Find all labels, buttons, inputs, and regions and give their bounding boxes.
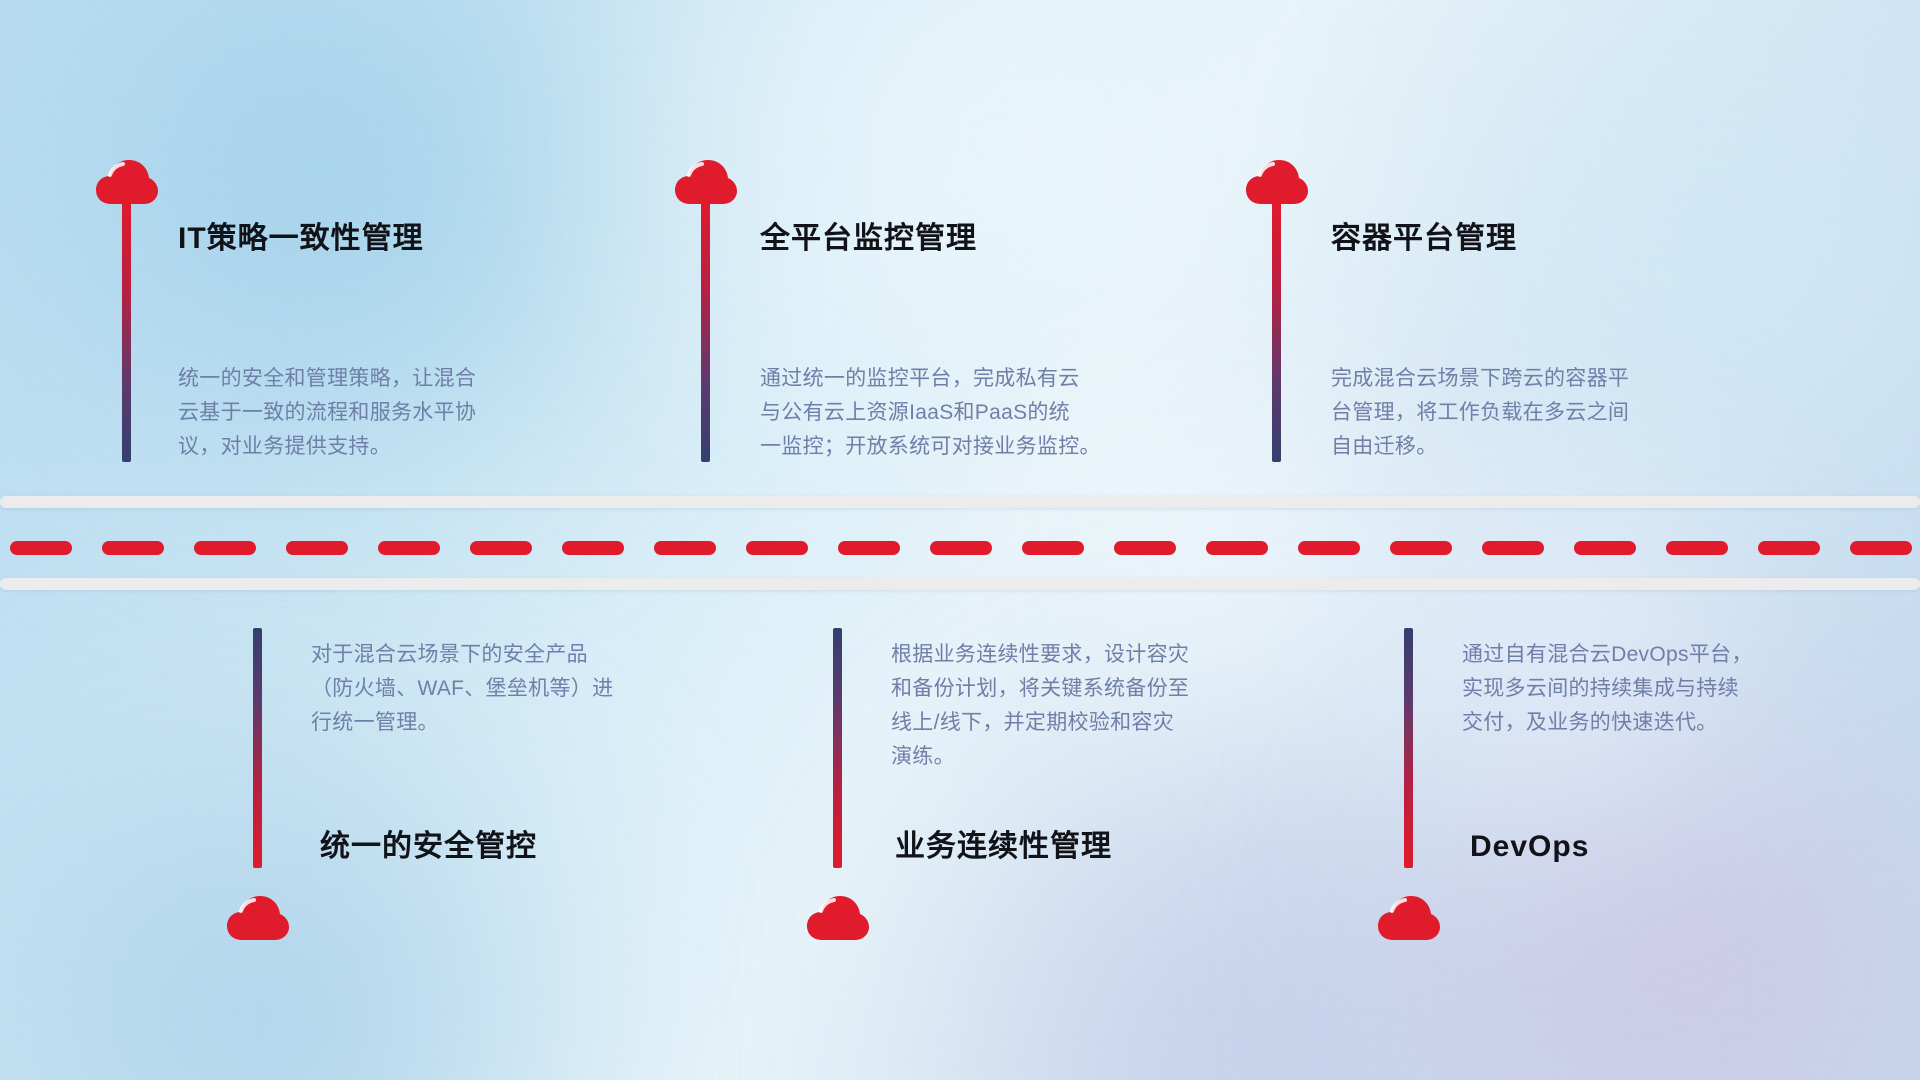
card-description: 根据业务连续性要求，设计容灾 和备份计划，将关键系统备份至 线上/线下，并定期校… — [891, 638, 1271, 774]
connector-line — [1272, 200, 1281, 462]
connector-line — [1404, 628, 1413, 868]
divider-dash — [1666, 541, 1728, 555]
card-description: 完成混合云场景下跨云的容器平 台管理，将工作负载在多云之间 自由迁移。 — [1331, 362, 1711, 464]
card-title: IT策略一致性管理 — [178, 224, 424, 254]
card-description: 对于混合云场景下的安全产品 （防火墙、WAF、堡垒机等）进 行统一管理。 — [311, 638, 691, 740]
divider-dash — [286, 541, 348, 555]
divider-dash — [102, 541, 164, 555]
divider-dash — [1114, 541, 1176, 555]
divider-dash — [1206, 541, 1268, 555]
cloud-icon — [807, 896, 869, 942]
card-description: 通过统一的监控平台，完成私有云 与公有云上资源IaaS和PaaS的统 一监控；开… — [760, 362, 1140, 464]
divider-dash — [1022, 541, 1084, 555]
divider-dash — [562, 541, 624, 555]
cloud-icon — [1378, 896, 1440, 942]
divider-dash — [838, 541, 900, 555]
connector-line — [122, 200, 131, 462]
connector-line — [253, 628, 262, 868]
divider-dash — [378, 541, 440, 555]
divider-dash — [930, 541, 992, 555]
dashed-road-divider — [0, 541, 1920, 555]
divider-dash — [1574, 541, 1636, 555]
divider-dash — [1298, 541, 1360, 555]
divider-bar-lower — [0, 578, 1920, 590]
divider-bar-upper — [0, 496, 1920, 508]
divider-dash — [1850, 541, 1912, 555]
divider-dash — [10, 541, 72, 555]
card-description: 通过自有混合云DevOps平台， 实现多云间的持续集成与持续 交付，及业务的快速… — [1462, 638, 1842, 740]
divider-dash — [1482, 541, 1544, 555]
card-title: 统一的安全管控 — [320, 832, 537, 862]
divider-dash — [194, 541, 256, 555]
divider-dash — [1390, 541, 1452, 555]
connector-line — [833, 628, 842, 868]
connector-line — [701, 200, 710, 462]
divider-dash — [746, 541, 808, 555]
card-title: 容器平台管理 — [1331, 224, 1517, 254]
divider-dash — [1758, 541, 1820, 555]
card-description: 统一的安全和管理策略，让混合 云基于一致的流程和服务水平协 议，对业务提供支持。 — [178, 362, 558, 464]
divider-dash — [654, 541, 716, 555]
card-title: DevOps — [1470, 832, 1589, 862]
divider-dash — [470, 541, 532, 555]
card-title: 全平台监控管理 — [760, 224, 977, 254]
card-title: 业务连续性管理 — [895, 832, 1112, 862]
cloud-icon — [227, 896, 289, 942]
